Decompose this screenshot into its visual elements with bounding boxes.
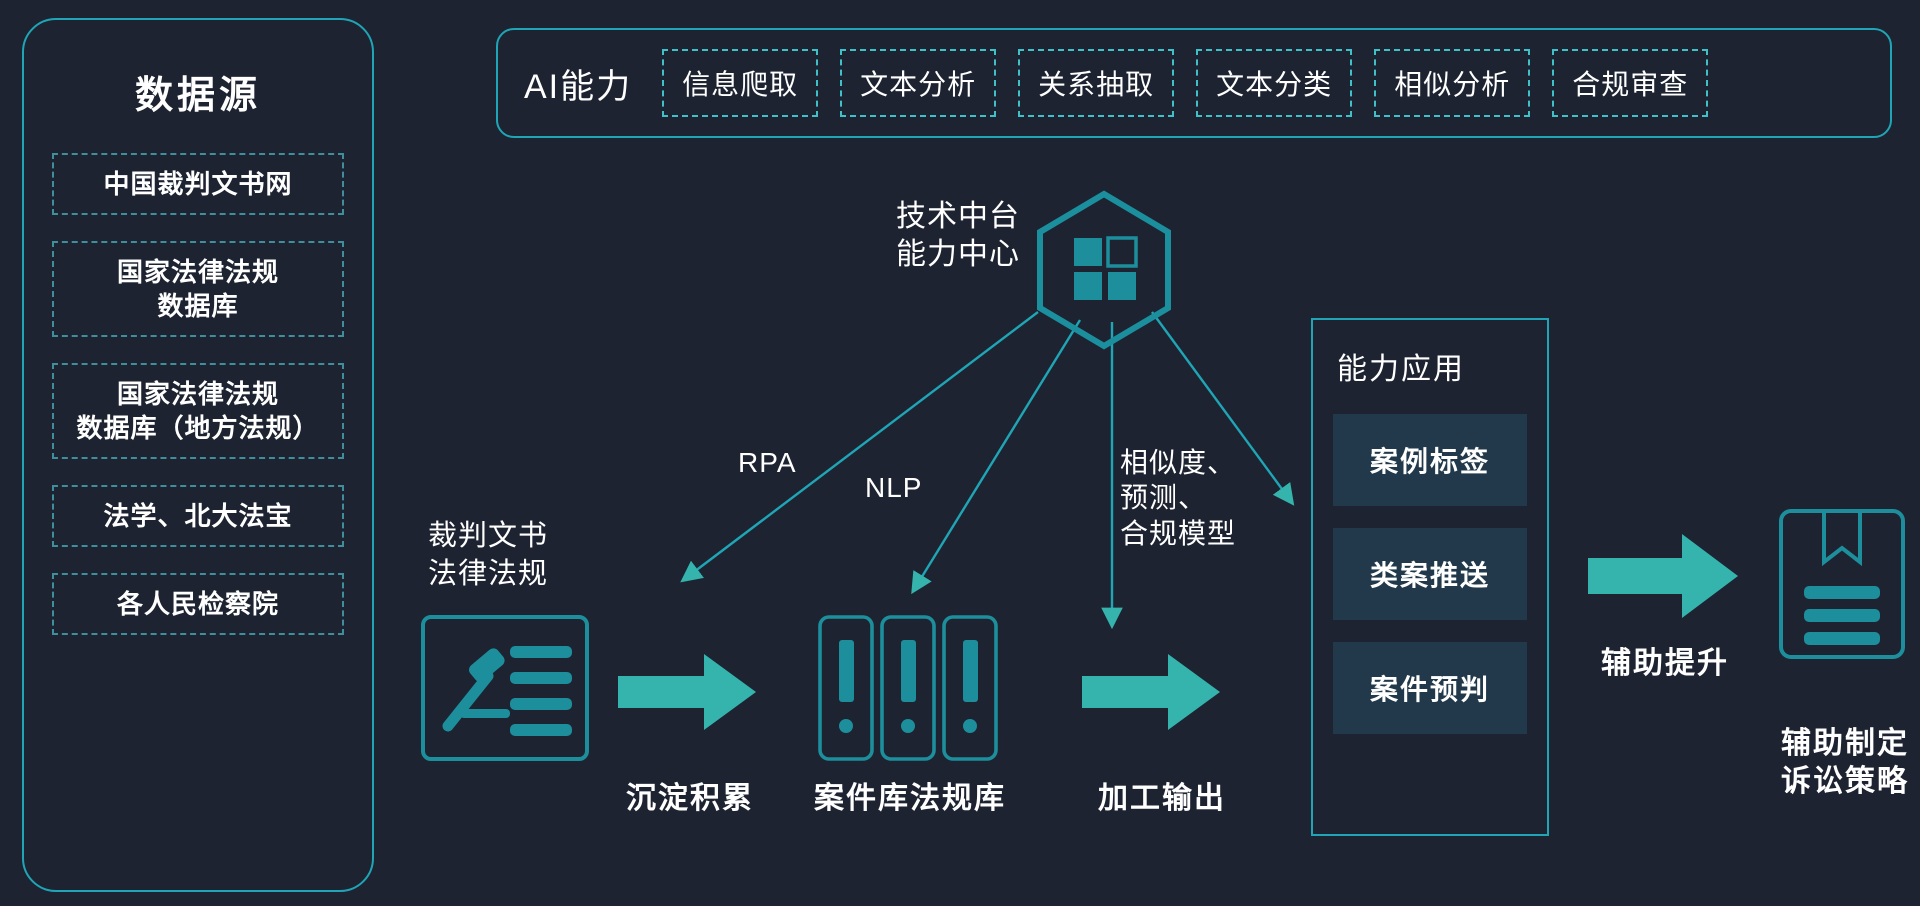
caption-accumulate: 沉淀积累 [600,780,780,818]
caption-litigation-strategy: 辅助制定诉讼策略 [1752,725,1920,800]
documents-caption: 裁判文书法律法规 [428,518,548,593]
right-arrow-icon-1 [618,650,756,734]
datasource-item-4[interactable]: 各人民检察院 [52,573,344,635]
ai-capability-title: AI能力 [524,59,632,108]
ai-tag-4[interactable]: 相似分析 [1374,49,1530,117]
hub-label: 技术中台能力中心 [840,198,1020,273]
connector-label-rpa: RPA [738,445,797,480]
ai-tag-5[interactable]: 合规审查 [1552,49,1708,117]
connector-label-nlp: NLP [865,470,922,505]
ai-tag-1[interactable]: 文本分析 [840,49,996,117]
bookmarked-document-icon [1778,508,1906,660]
capability-item-1[interactable]: 类案推送 [1333,528,1527,620]
capability-application-title: 能力应用 [1337,344,1527,388]
datasource-list: 中国裁判文书网 国家法律法规数据库 国家法律法规数据库（地方法规） 法学、北大法… [52,153,344,635]
connector-nlp [915,320,1080,588]
gavel-document-icon [420,614,590,762]
ai-tag-0[interactable]: 信息爬取 [662,49,818,117]
right-arrow-icon-2 [1082,650,1220,734]
connector-label-similarity: 相似度、预测、合规模型 [1120,445,1236,551]
right-arrow-icon-3 [1588,530,1738,622]
ai-capability-bar: AI能力 信息爬取 文本分析 关系抽取 文本分类 相似分析 合规审查 [496,28,1892,138]
caption-repository: 案件库法规库 [800,780,1020,818]
datasource-item-0[interactable]: 中国裁判文书网 [52,153,344,215]
capability-item-2[interactable]: 案件预判 [1333,642,1527,734]
diagram-canvas: 数据源 中国裁判文书网 国家法律法规数据库 国家法律法规数据库（地方法规） 法学… [0,0,1920,906]
datasource-panel: 数据源 中国裁判文书网 国家法律法规数据库 国家法律法规数据库（地方法规） 法学… [22,18,374,892]
datasource-item-2[interactable]: 国家法律法规数据库（地方法规） [52,363,344,459]
capability-application-list: 案例标签 类案推送 案件预判 [1333,414,1527,734]
ai-tag-2[interactable]: 关系抽取 [1018,49,1174,117]
binder-stack-icon [818,614,998,762]
capability-item-0[interactable]: 案例标签 [1333,414,1527,506]
datasource-item-3[interactable]: 法学、北大法宝 [52,485,344,547]
ai-tag-3[interactable]: 文本分类 [1196,49,1352,117]
capability-application-panel: 能力应用 案例标签 类案推送 案件预判 [1311,318,1549,836]
caption-assist-boost: 辅助提升 [1580,645,1750,683]
datasource-item-1[interactable]: 国家法律法规数据库 [52,241,344,337]
hexagon-grid-icon [1034,190,1174,350]
caption-processing: 加工输出 [1072,780,1252,818]
datasource-title: 数据源 [52,64,344,119]
